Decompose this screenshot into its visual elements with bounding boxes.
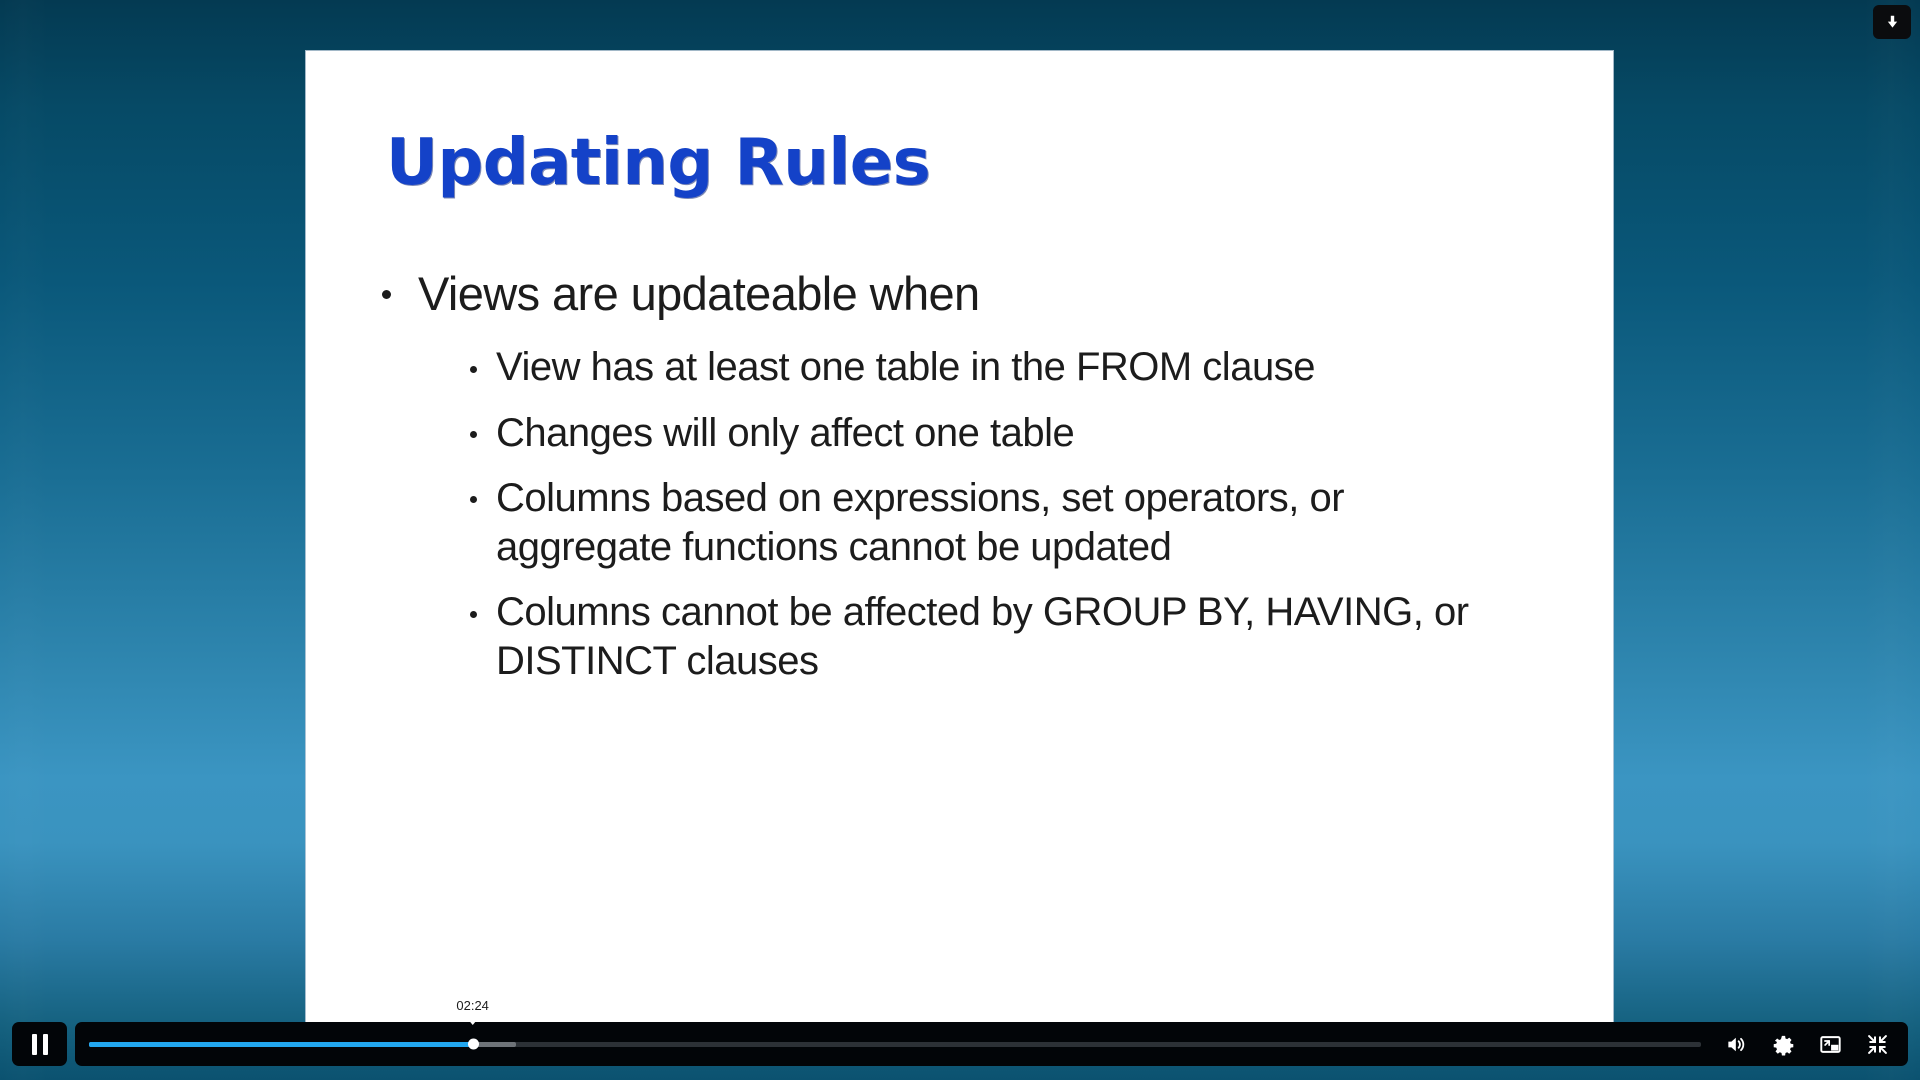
bullet-level1-text: Views are updateable when — [418, 267, 980, 320]
volume-icon — [1725, 1033, 1748, 1056]
pause-icon — [32, 1034, 48, 1055]
bullet-level2: Columns based on expressions, set operat… — [462, 474, 1482, 572]
play-pause-button[interactable] — [12, 1022, 67, 1066]
slide-sub-bullet-list: View has at least one table in the FROM … — [462, 343, 1546, 686]
volume-button[interactable] — [1723, 1031, 1749, 1057]
presentation-slide: Updating Rules Views are updateable when… — [306, 51, 1613, 1041]
bullet-level2-text: Changes will only affect one table — [496, 411, 1074, 455]
picture-in-picture-button[interactable] — [1817, 1031, 1843, 1057]
bullet-level2-text: View has at least one table in the FROM … — [496, 345, 1315, 389]
picture-in-picture-icon — [1819, 1033, 1842, 1056]
bullet-level1: Views are updateable when — [366, 266, 1546, 321]
bullet-dot-icon — [470, 366, 477, 373]
seek-played-range — [89, 1042, 473, 1047]
bullet-dot-icon — [470, 431, 477, 438]
download-button[interactable] — [1873, 5, 1911, 39]
video-player: Updating Rules Views are updateable when… — [0, 0, 1920, 1080]
seek-handle[interactable] — [468, 1039, 479, 1050]
control-icon-group — [1723, 1031, 1890, 1057]
bullet-dot-icon — [470, 496, 477, 503]
bullet-level2: Changes will only affect one table — [462, 409, 1482, 458]
seek-bar[interactable]: 02:24 — [89, 1042, 1701, 1047]
bullet-level2-text: Columns based on expressions, set operat… — [496, 476, 1344, 569]
gear-icon — [1772, 1033, 1795, 1056]
bullet-level2: View has at least one table in the FROM … — [462, 343, 1482, 392]
exit-fullscreen-icon — [1866, 1033, 1889, 1056]
bullet-dot-icon — [470, 611, 477, 618]
settings-button[interactable] — [1770, 1031, 1796, 1057]
bullet-level2: Columns cannot be affected by GROUP BY, … — [462, 588, 1482, 686]
bullet-level2-text: Columns cannot be affected by GROUP BY, … — [496, 590, 1469, 683]
exit-fullscreen-button[interactable] — [1864, 1031, 1890, 1057]
slide-title: Updating Rules — [386, 130, 930, 198]
control-bar-main: 02:24 — [75, 1022, 1908, 1066]
bullet-dot-icon — [382, 290, 391, 299]
slide-bullet-list: Views are updateable when View has at le… — [366, 266, 1546, 703]
download-arrow-icon — [1884, 14, 1901, 31]
player-control-bar: 02:24 — [0, 1022, 1920, 1066]
